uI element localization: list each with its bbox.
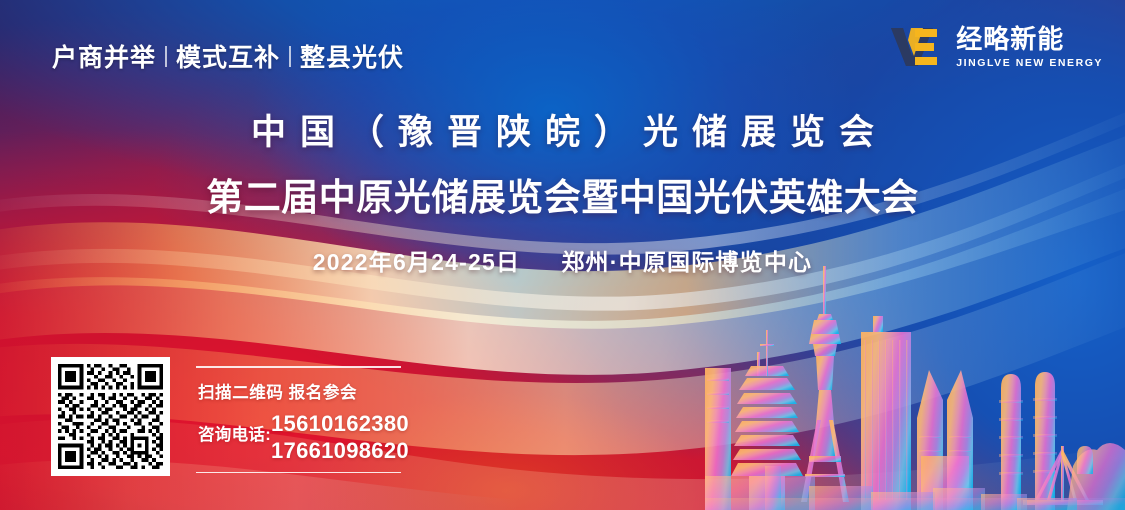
scan-prompt: 扫描二维码 报名参会	[198, 379, 401, 403]
slogan: 户商并举 模式互补 整县光伏	[52, 38, 404, 74]
phone-number[interactable]: 15610162380	[271, 410, 409, 437]
event-date: 2022年6月24-25日	[313, 249, 520, 275]
brand-name-en: JINGLVE NEW ENERGY	[956, 58, 1103, 69]
slogan-part-2: 模式互补	[176, 38, 280, 74]
page-subtitle: 第二届中原光储展览会暨中国光伏英雄大会	[0, 167, 1125, 221]
brand-logo[interactable]: 经略新能 JINGLVE NEW ENERGY	[889, 26, 1103, 69]
phone-number[interactable]: 17661098620	[271, 437, 409, 464]
registration-qr-code[interactable]	[51, 357, 170, 476]
slogan-separator-icon	[165, 46, 167, 67]
brand-name-group: 经略新能 JINGLVE NEW ENERGY	[956, 26, 1103, 69]
headline-block: 中国（豫晋陕皖）光储展览会 第二届中原光储展览会暨中国光伏英雄大会 2022年6…	[0, 104, 1125, 277]
phone-row: 咨询电话: 15610162380 17661098620	[198, 410, 401, 464]
registration-contact-block: 扫描二维码 报名参会 咨询电话: 15610162380 17661098620	[196, 366, 401, 473]
ve-monogram-icon	[889, 26, 945, 68]
phone-label: 咨询电话:	[198, 410, 271, 445]
event-venue: 郑州·中原国际博览中心	[561, 249, 812, 275]
slogan-part-1: 户商并举	[52, 38, 156, 74]
brand-name-cn: 经略新能	[956, 26, 1103, 52]
slogan-separator-icon	[289, 46, 291, 67]
contact-body: 扫描二维码 报名参会 咨询电话: 15610162380 17661098620	[196, 368, 401, 464]
page-title: 中国（豫晋陕皖）光储展览会	[0, 104, 1125, 155]
event-meta: 2022年6月24-25日 郑州·中原国际博览中心	[0, 243, 1125, 277]
phone-list: 15610162380 17661098620	[271, 410, 409, 464]
slogan-part-3: 整县光伏	[300, 38, 404, 74]
contact-rule-bottom	[196, 472, 401, 474]
exhibition-banner: 户商并举 模式互补 整县光伏 经略新能 JINGLVE NEW ENERGY 中…	[0, 0, 1125, 510]
